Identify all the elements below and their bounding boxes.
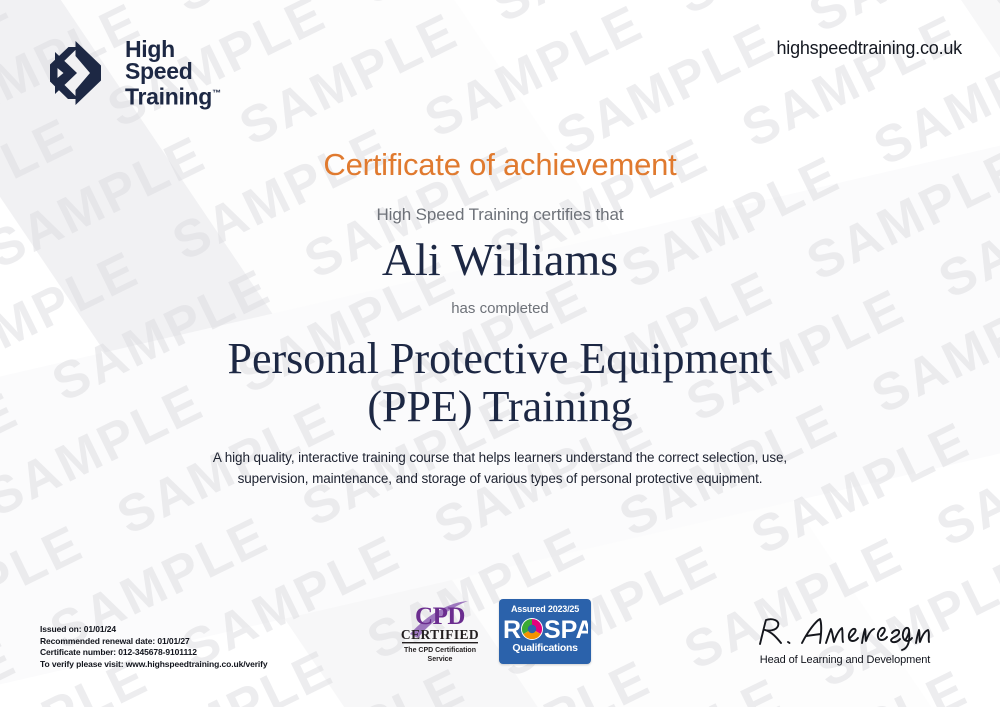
learner-name: Ali Williams xyxy=(0,233,1000,286)
certifies-statement: High Speed Training certifies that xyxy=(0,205,1000,225)
rospa-assured-label: Assured 2023/25 xyxy=(499,604,591,614)
completion-statement: has completed xyxy=(0,300,1000,317)
logo-line-3: Training xyxy=(125,84,212,110)
brand-logo: High Speed Training™ xyxy=(44,38,221,108)
signature-icon xyxy=(750,612,940,652)
certificate-title: Certificate of achievement xyxy=(0,147,1000,183)
signature-block: Head of Learning and Development xyxy=(730,612,960,666)
svg-text:R: R xyxy=(503,616,521,643)
svg-text:SPA: SPA xyxy=(544,616,588,643)
rospa-wordmark-icon: R SPA xyxy=(499,615,591,643)
svg-text:CPD: CPD xyxy=(415,603,465,630)
course-title-line-1: Personal Protective Equipment xyxy=(228,334,773,383)
high-speed-training-chevron-icon xyxy=(44,38,112,108)
issued-on-line: Issued on: 01/01/24 xyxy=(40,624,268,636)
renewal-date-line: Recommended renewal date: 01/01/27 xyxy=(40,636,268,648)
rospa-qualifications-badge: Assured 2023/25 R SPA Qualifications xyxy=(499,599,591,664)
brand-wordmark: High Speed Training™ xyxy=(125,38,221,108)
verify-link-line[interactable]: To verify please visit: www.highspeedtra… xyxy=(40,659,268,671)
website-url[interactable]: highspeedtraining.co.uk xyxy=(776,38,962,59)
course-description: A high quality, interactive training cou… xyxy=(190,447,810,489)
cpd-subtitle-line-1: The CPD Certification xyxy=(388,647,492,656)
cpd-subtitle-line-2: Service xyxy=(388,656,492,665)
certificate-page: SAMPLESAMPLESAMPLESAMPLESAMPLESAMPLESAMP… xyxy=(0,0,1000,707)
cpd-subtitle: The CPD Certification Service xyxy=(388,647,492,664)
rospa-qualifications-label: Qualifications xyxy=(499,642,591,654)
course-title-line-2: (PPE) Training xyxy=(367,382,632,431)
course-title: Personal Protective Equipment (PPE) Trai… xyxy=(90,335,910,431)
issue-details: Issued on: 01/01/24 Recommended renewal … xyxy=(40,624,268,670)
logo-line-2: Speed xyxy=(125,58,193,84)
certificate-number-line: Certificate number: 012-345678-9101112 xyxy=(40,647,268,659)
signatory-role: Head of Learning and Development xyxy=(730,654,960,666)
svg-text:CERTIFIED: CERTIFIED xyxy=(401,627,479,642)
cpd-logo-icon: CPD CERTIFIED xyxy=(388,600,492,646)
cpd-certified-badge: CPD CERTIFIED The CPD Certification Serv… xyxy=(388,600,492,664)
trademark-symbol: ™ xyxy=(212,88,221,98)
